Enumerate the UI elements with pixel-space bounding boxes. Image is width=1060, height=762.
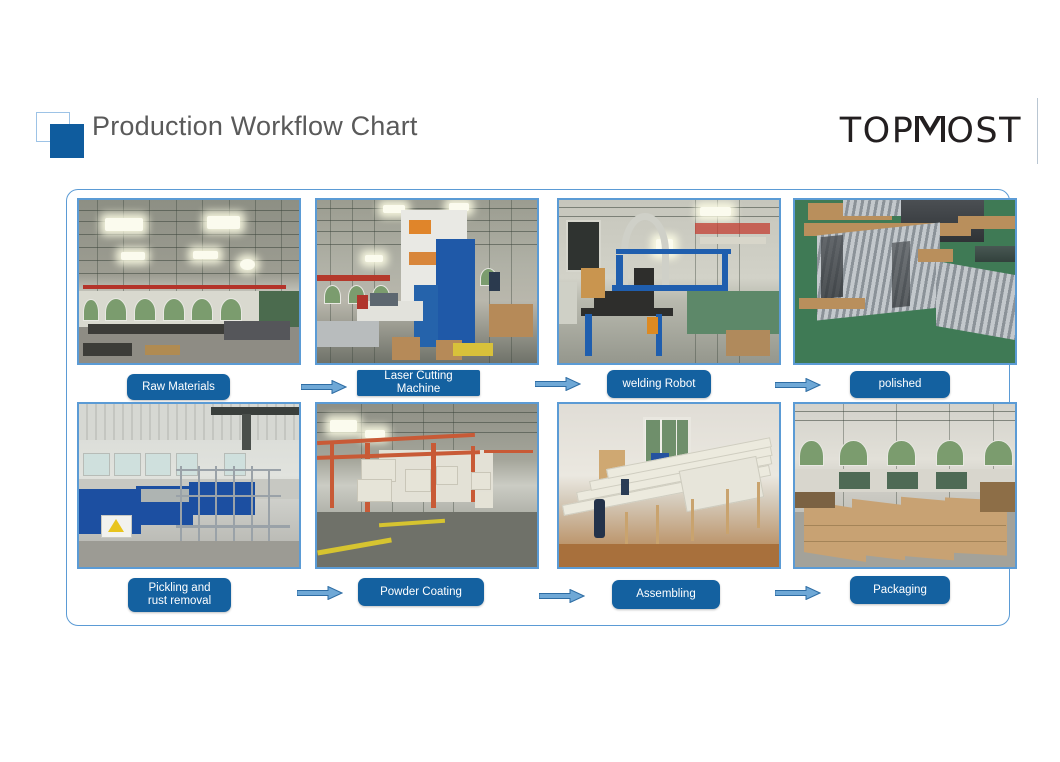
right-arrow-icon: [775, 378, 821, 392]
photo-factory-warehouse: [77, 198, 301, 365]
brand-wordmark: TOPOST: [840, 114, 1022, 149]
photo-polished-parts: [793, 198, 1017, 365]
step-label-polished[interactable]: polished: [850, 371, 950, 398]
brand-text-part1: TOP: [840, 114, 915, 149]
right-arrow-icon: [775, 586, 821, 600]
workflow-step-powder-coating[interactable]: Powder Coating: [315, 402, 539, 607]
workflow-step-pickling[interactable]: Pickling and rust removal: [77, 402, 301, 607]
workflow-row-1: Raw Materials: [67, 198, 1011, 403]
photo-powder-coating-line: [315, 402, 539, 569]
photo-packaging-warehouse: [793, 402, 1017, 569]
step-label-raw-materials[interactable]: Raw Materials: [127, 374, 230, 400]
brand-text-part2: OST: [946, 114, 1022, 149]
workflow-diagram-frame: Raw Materials: [66, 189, 1010, 626]
page-header: Production Workflow Chart TOPOST: [0, 0, 1060, 180]
workflow-step-raw-materials[interactable]: Raw Materials: [77, 198, 301, 403]
photo-welding-robot: [557, 198, 781, 365]
stylized-m-icon: [915, 116, 945, 142]
workflow-step-packaging[interactable]: Packaging: [793, 402, 1017, 607]
step-label-assembling[interactable]: Assembling: [612, 580, 720, 609]
workflow-step-assembling[interactable]: Assembling: [557, 402, 781, 607]
photo-laser-cutting-machine: [315, 198, 539, 365]
step-label-welding-robot[interactable]: welding Robot: [607, 370, 711, 398]
workflow-row-2: Pickling and rust removal: [67, 402, 1011, 607]
step-label-powder-coating[interactable]: Powder Coating: [358, 578, 484, 606]
photo-pickling-tanks: [77, 402, 301, 569]
page-title: Production Workflow Chart: [92, 111, 418, 142]
brand-logo: TOPOST: [840, 100, 1022, 162]
right-arrow-icon: [297, 586, 343, 600]
right-arrow-icon: [535, 377, 581, 391]
right-arrow-icon: [301, 380, 347, 394]
overlapping-squares-icon: [36, 112, 86, 158]
brand-divider: [1037, 98, 1038, 164]
workflow-step-welding-robot[interactable]: welding Robot: [557, 198, 781, 403]
step-label-pickling[interactable]: Pickling and rust removal: [128, 578, 231, 612]
logo-square-solid: [50, 124, 84, 158]
right-arrow-icon: [539, 589, 585, 603]
workflow-step-laser-cutting[interactable]: Laser Cutting Machine: [315, 198, 539, 403]
photo-assembly-line: [557, 402, 781, 569]
workflow-step-polished[interactable]: polished: [793, 198, 1017, 403]
step-label-laser-cutting[interactable]: Laser Cutting Machine: [357, 370, 480, 396]
step-label-packaging[interactable]: Packaging: [850, 576, 950, 604]
